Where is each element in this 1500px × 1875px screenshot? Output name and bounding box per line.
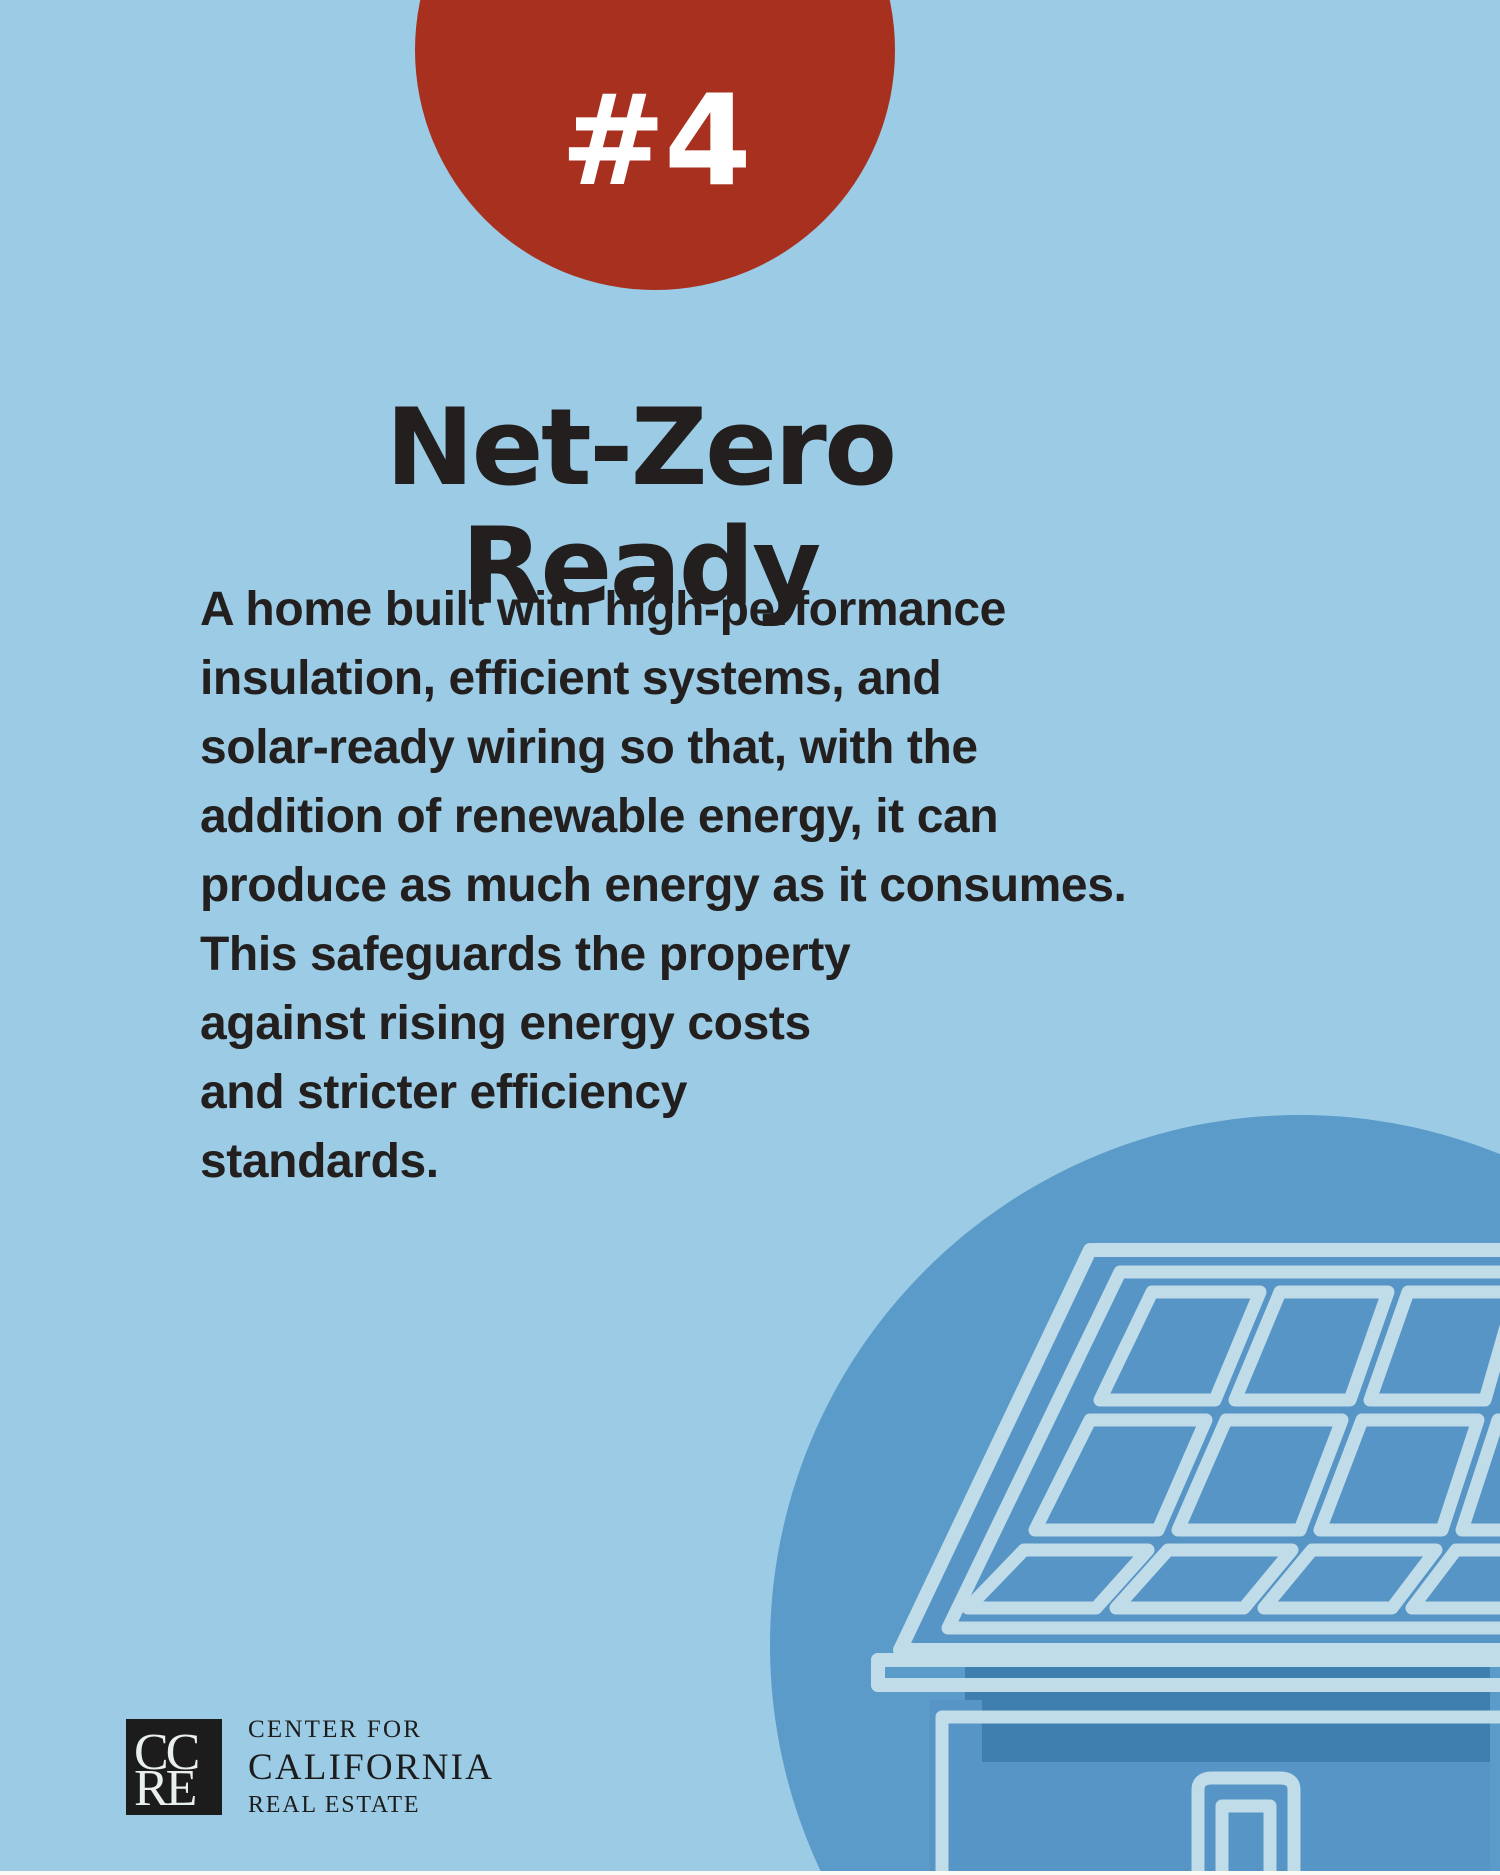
logo-line-california: CALIFORNIA bbox=[248, 1749, 494, 1786]
ccre-logo: CC RE CENTER FOR CALIFORNIA REAL ESTATE bbox=[126, 1717, 494, 1817]
ccre-logo-mark: CC RE bbox=[126, 1719, 222, 1815]
body-line: against rising energy costs bbox=[200, 989, 1100, 1058]
logo-mark-bottom-letters: RE bbox=[134, 1763, 194, 1815]
poster-canvas: #4 Net-Zero Ready A home built with high… bbox=[0, 0, 1500, 1875]
body-paragraph: A home built with high-performance insul… bbox=[200, 575, 1100, 1196]
house-with-solar-panels-illustration bbox=[760, 1230, 1500, 1875]
body-line: insulation, efficient systems, and bbox=[200, 644, 1100, 713]
body-line: and stricter efficiency bbox=[200, 1058, 1100, 1127]
title-line-1: Net-Zero bbox=[0, 389, 1280, 508]
body-line: This safeguards the property bbox=[200, 920, 1100, 989]
body-line: produce as much energy as it consumes. bbox=[200, 851, 1100, 920]
bottom-edge-strip bbox=[0, 1871, 1500, 1875]
logo-line-real-estate: REAL ESTATE bbox=[248, 1793, 494, 1817]
body-line: A home built with high-performance bbox=[200, 575, 1100, 644]
ccre-logo-wordmark: CENTER FOR CALIFORNIA REAL ESTATE bbox=[248, 1717, 494, 1817]
body-line: solar-ready wiring so that, with the bbox=[200, 713, 1100, 782]
body-line: standards. bbox=[200, 1127, 1100, 1196]
body-line: addition of renewable energy, it can bbox=[200, 782, 1100, 851]
logo-line-center-for: CENTER FOR bbox=[248, 1717, 494, 1742]
badge-number-label: #4 bbox=[415, 78, 895, 204]
